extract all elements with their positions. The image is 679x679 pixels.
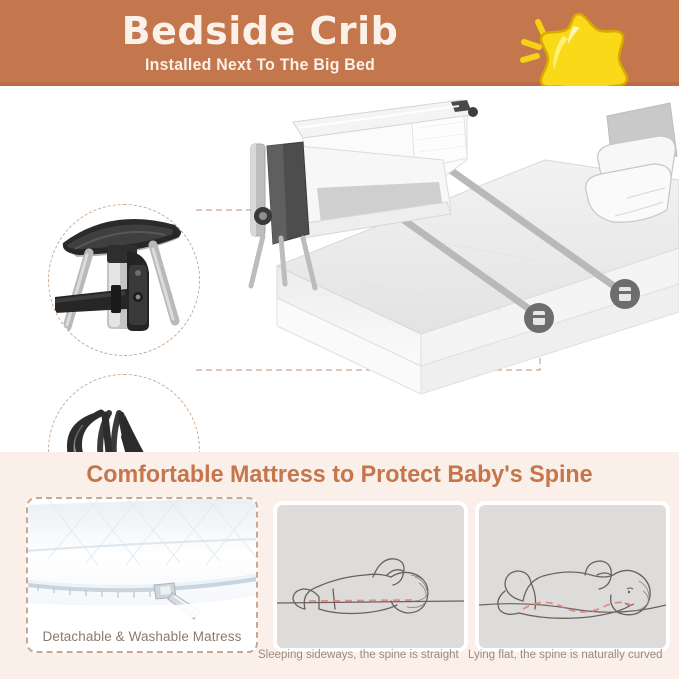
baby-sleeping-sideways-illustration (273, 501, 468, 652)
baby-flat-figure (479, 505, 666, 648)
mattress-caption: Detachable & Washable Matress (28, 629, 256, 644)
bedside-crib-attached-to-bed-illustration (215, 98, 679, 398)
page-subtitle: Installed Next To The Big Bed (18, 54, 502, 76)
header-banner: Bedside Crib Installed Next To The Big B… (0, 0, 679, 86)
section-heading: Comfortable Mattress to Protect Baby's S… (10, 460, 669, 490)
product-infographic: Bedside Crib Installed Next To The Big B… (0, 0, 679, 679)
header-title-block: Bedside Crib Installed Next To The Big B… (0, 8, 520, 76)
page-title: Bedside Crib (0, 8, 520, 54)
mattress-card: Detachable & Washable Matress (26, 497, 258, 653)
mattress-comfort-section: Comfortable Mattress to Protect Baby's S… (0, 452, 679, 679)
baby-side-figure (277, 505, 464, 648)
crib-leg-joint-photo (49, 205, 199, 355)
installation-illustration-section (0, 86, 679, 452)
baby-lying-flat-illustration (475, 501, 670, 652)
crib-leg-joint-detail (48, 204, 200, 356)
baby-side-caption: Sleeping sideways, the spine is straight (258, 649, 459, 661)
baby-flat-caption: Lying flat, the spine is naturally curve… (468, 649, 663, 661)
